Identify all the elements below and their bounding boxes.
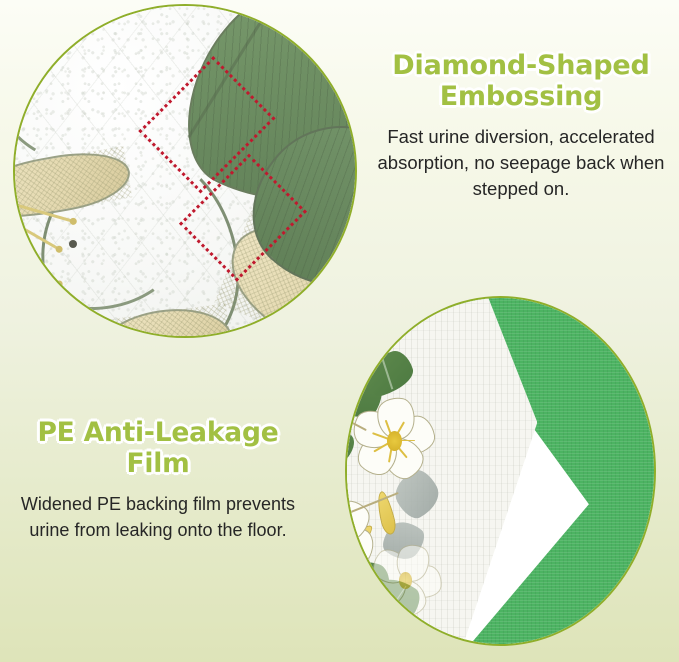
heading-line-2: Film	[126, 448, 189, 479]
pad-corner-green-pe-film-photo	[345, 296, 656, 646]
embossed-pad-surface-closeup-photo	[13, 4, 357, 338]
feature-body-film: Widened PE backing film prevents urine f…	[8, 492, 308, 543]
heading-line-2: Embossing	[440, 81, 603, 112]
flower-center	[399, 572, 412, 590]
feature-heading-film: PE Anti-Leakage Film	[8, 418, 308, 479]
print-flower	[351, 383, 436, 496]
photo-content-embossing	[15, 6, 355, 336]
feature-heading-embossing: Diamond-Shaped Embossing	[371, 50, 671, 113]
feature-body-embossing: Fast urine diversion, accelerated absorp…	[371, 124, 671, 203]
heading-line-1: Diamond-Shaped	[392, 50, 649, 81]
print-flower	[368, 531, 441, 629]
feature-diamond-shaped-embossing: Diamond-Shaped Embossing Fast urine dive…	[371, 50, 671, 202]
flower-center	[387, 431, 402, 451]
feature-pe-anti-leakage-film: PE Anti-Leakage Film Widened PE backing …	[8, 418, 308, 544]
heading-line-1: PE Anti-Leakage	[37, 417, 278, 448]
photo-content-film	[347, 298, 654, 644]
infographic-page: Diamond-Shaped Embossing Fast urine dive…	[0, 0, 679, 662]
